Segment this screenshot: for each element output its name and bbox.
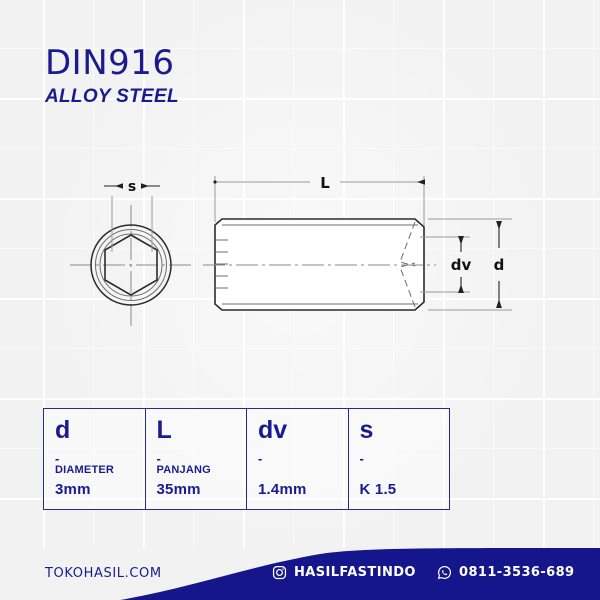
footer-website[interactable]: TOKOHASIL.COM <box>45 566 162 581</box>
footer-instagram-handle: HASILFASTINDO <box>294 565 416 580</box>
spec-symbol: s <box>360 418 450 443</box>
spec-label <box>360 465 450 477</box>
technical-drawing: s <box>0 0 600 420</box>
footer-instagram[interactable]: HASILFASTINDO <box>272 565 416 580</box>
dimension-label-L: L <box>320 174 330 192</box>
spec-symbol: L <box>157 418 247 443</box>
spec-label <box>258 465 348 477</box>
spec-value: 3mm <box>55 482 145 497</box>
dimension-label-d: d <box>494 256 505 274</box>
dimension-label-dv: dv <box>451 256 472 274</box>
spec-value: K 1.5 <box>360 482 450 497</box>
spec-dash: - <box>157 452 247 462</box>
dimension-label-s: s <box>128 179 136 195</box>
footer-whatsapp[interactable]: 0811-3536-689 <box>437 565 575 580</box>
hex-socket-front-view: s <box>70 179 192 327</box>
spec-cell-d: d - DIAMETER 3mm <box>44 409 146 509</box>
whatsapp-icon <box>437 565 452 580</box>
spec-cell-s: s - K 1.5 <box>349 409 450 509</box>
footer-whatsapp-number: 0811-3536-689 <box>459 565 575 580</box>
dimension-s: s <box>104 179 160 252</box>
footer: TOKOHASIL.COM HASILFASTINDO 0811-3536-68… <box>0 548 600 600</box>
product-spec-card: DIN916 ALLOY STEEL <box>0 0 600 600</box>
set-screw-side-view: L dv d <box>203 174 512 310</box>
spec-label: DIAMETER <box>55 465 145 477</box>
spec-symbol: d <box>55 418 145 443</box>
spec-dash: - <box>55 452 145 462</box>
spec-dash: - <box>360 452 450 462</box>
spec-value: 1.4mm <box>258 482 348 497</box>
spec-value: 35mm <box>157 482 247 497</box>
spec-table: d - DIAMETER 3mm L - PANJANG 35mm dv - 1… <box>43 408 450 510</box>
spec-dash: - <box>258 452 348 462</box>
spec-cell-l: L - PANJANG 35mm <box>146 409 248 509</box>
spec-cell-dv: dv - 1.4mm <box>247 409 349 509</box>
spec-symbol: dv <box>258 418 348 443</box>
spec-label: PANJANG <box>157 465 247 477</box>
instagram-icon <box>272 565 287 580</box>
